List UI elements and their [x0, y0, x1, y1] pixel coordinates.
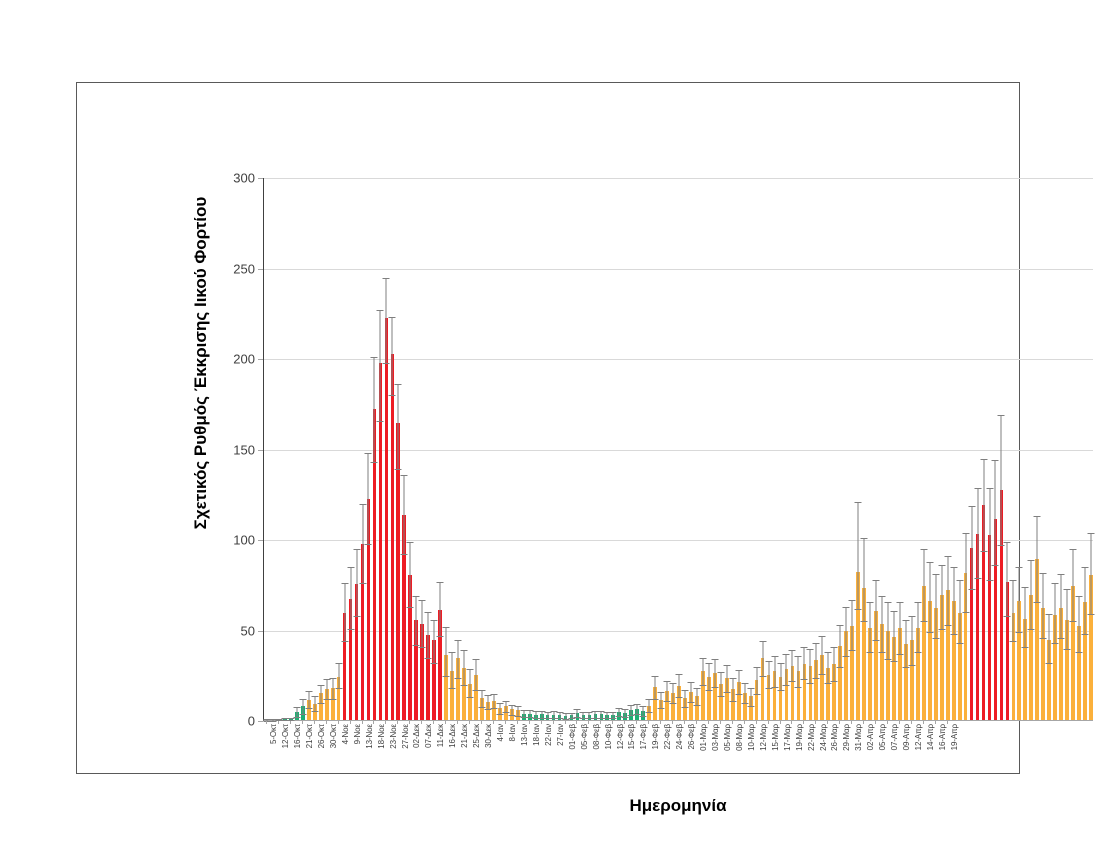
x-tick-label: 21-Δεκ — [460, 724, 469, 748]
x-tick-label: 02-Απρ — [866, 724, 875, 750]
x-tick-mark — [684, 721, 685, 724]
x-tick-label: 14-Απρ — [926, 724, 935, 750]
error-bar — [917, 602, 918, 653]
x-tick-label: 13-Ιαν — [520, 724, 529, 746]
error-bar — [702, 658, 703, 685]
x-tick-label: 07-Δεκ — [424, 724, 433, 748]
plot-area — [263, 178, 1093, 721]
error-bar — [302, 699, 303, 713]
error-bar — [458, 640, 459, 678]
error-bar — [523, 710, 524, 717]
error-bar — [332, 678, 333, 699]
x-tick-mark — [887, 721, 888, 724]
error-bar — [1007, 542, 1008, 616]
error-bar — [828, 652, 829, 683]
x-tick-label: 05-Μαρ — [723, 724, 732, 751]
x-tick-mark — [612, 721, 613, 724]
error-bar — [446, 627, 447, 676]
x-tick-label: 15-Φεβ — [627, 724, 636, 750]
x-tick-label: 23-Νοε — [389, 724, 398, 749]
x-tick-mark — [278, 721, 279, 724]
x-tick-mark — [469, 721, 470, 724]
x-tick-mark — [266, 721, 267, 724]
error-bar — [1091, 533, 1092, 614]
bar-series — [264, 178, 1093, 720]
error-bar — [338, 663, 339, 688]
error-bar — [870, 602, 871, 653]
x-tick-mark — [923, 721, 924, 724]
error-bar — [428, 612, 429, 657]
x-tick-mark — [768, 721, 769, 724]
error-bar — [344, 583, 345, 641]
y-axis: 050100150200250300 — [217, 178, 263, 721]
error-bar — [296, 707, 297, 718]
x-axis-title: Ημερομηνία — [263, 796, 1093, 816]
error-bar — [1013, 580, 1014, 642]
x-tick-mark — [648, 721, 649, 724]
x-tick-label: 22-Μαρ — [807, 724, 816, 751]
x-tick-mark — [373, 721, 374, 724]
error-bar — [1055, 583, 1056, 643]
x-tick-mark — [732, 721, 733, 724]
error-bar — [798, 656, 799, 687]
error-bar — [977, 488, 978, 579]
x-tick-mark — [541, 721, 542, 724]
error-bar — [1061, 574, 1062, 637]
x-tick-label: 12-Οκτ — [281, 724, 290, 748]
x-tick-mark — [935, 721, 936, 724]
x-tick-mark — [517, 721, 518, 724]
x-tick-mark — [445, 721, 446, 724]
x-tick-label: 5-Οκτ — [269, 724, 278, 744]
error-bar — [505, 701, 506, 712]
error-bar — [362, 504, 363, 584]
x-tick-label: 08-Μαρ — [735, 724, 744, 751]
error-bar — [649, 699, 650, 712]
error-bar — [720, 672, 721, 696]
error-bar — [804, 647, 805, 680]
chart-page: Σχετικός Ρυθμός Έκκρισης Ιικού Φορτίου 0… — [0, 0, 1100, 850]
error-bar — [947, 556, 948, 625]
x-tick-label: 10-Φεβ — [604, 724, 613, 750]
error-bar — [368, 453, 369, 544]
x-tick-mark — [803, 721, 804, 724]
x-tick-label: 17-Μαρ — [783, 724, 792, 751]
error-bar — [1031, 560, 1032, 629]
x-tick-label: 25-Δεκ — [472, 724, 481, 748]
x-tick-label: 22-Ιαν — [544, 724, 553, 746]
error-bar — [846, 607, 847, 656]
error-bar — [738, 670, 739, 694]
error-bar — [1025, 587, 1026, 647]
x-tick-mark — [457, 721, 458, 724]
x-tick-mark — [708, 721, 709, 724]
error-bar — [320, 685, 321, 703]
error-bar — [696, 688, 697, 704]
x-tick-mark — [588, 721, 589, 724]
error-bar — [1049, 614, 1050, 663]
error-bar — [356, 549, 357, 616]
bar[interactable] — [385, 318, 389, 720]
x-tick-label: 18-Ιαν — [532, 724, 541, 746]
error-bar — [631, 705, 632, 715]
y-tick-label: 100 — [233, 533, 255, 548]
error-bar — [434, 620, 435, 663]
x-tick-mark — [947, 721, 948, 724]
x-tick-label: 24-Μαρ — [819, 724, 828, 751]
error-bar — [935, 574, 936, 637]
x-tick-mark — [744, 721, 745, 724]
y-tick-label: 50 — [241, 623, 255, 638]
x-tick-label: 12-Απρ — [914, 724, 923, 750]
x-tick-label: 19-Απρ — [950, 724, 959, 750]
y-tick-label: 150 — [233, 442, 255, 457]
error-bar — [995, 460, 996, 565]
error-bar — [816, 643, 817, 677]
y-tick-label: 250 — [233, 261, 255, 276]
error-bar — [404, 475, 405, 555]
x-tick-mark — [302, 721, 303, 724]
x-tick-mark — [565, 721, 566, 724]
x-tick-mark — [481, 721, 482, 724]
error-bar — [714, 659, 715, 686]
error-bar — [834, 647, 835, 681]
error-bar — [810, 649, 811, 683]
error-bar — [553, 711, 554, 718]
error-bar — [601, 711, 602, 718]
x-tick-mark — [385, 721, 386, 724]
x-tick-label: 05-Απρ — [878, 724, 887, 750]
x-tick-mark — [493, 721, 494, 724]
error-bar — [840, 625, 841, 667]
error-bar — [822, 636, 823, 674]
error-bar — [929, 562, 930, 633]
x-tick-mark — [660, 721, 661, 724]
error-bar — [619, 708, 620, 717]
error-bar — [541, 711, 542, 718]
error-bar-cap — [287, 720, 294, 721]
x-tick-label: 9-Νοε — [353, 724, 362, 744]
error-bar — [464, 650, 465, 684]
x-tick-label: 16-Οκτ — [293, 724, 302, 748]
error-bar — [792, 650, 793, 681]
error-bar — [756, 667, 757, 694]
x-tick-label: 31-Μαρ — [854, 724, 863, 751]
x-tick-label: 27-Ιαν — [556, 724, 565, 746]
x-tick-label: 01-Μαρ — [699, 724, 708, 751]
error-bar — [971, 506, 972, 589]
error-bar — [386, 278, 387, 363]
x-tick-label: 18-Νοε — [377, 724, 386, 749]
error-bar — [678, 674, 679, 698]
bar-slot[interactable] — [1088, 178, 1094, 720]
error-bar — [1067, 589, 1068, 649]
y-tick-label: 0 — [248, 714, 255, 729]
x-tick-label: 26-Φεβ — [687, 724, 696, 750]
y-axis-title: Σχετικός Ρυθμός Έκκρισης Ιικού Φορτίου — [191, 153, 211, 573]
x-tick-label: 4-Νοε — [341, 724, 350, 744]
y-tick-mark — [258, 721, 263, 722]
error-bar-cap — [1088, 533, 1095, 534]
error-bar — [416, 596, 417, 645]
x-tick-mark — [815, 721, 816, 724]
error-bar — [1001, 415, 1002, 545]
error-bar — [661, 692, 662, 708]
error-bar — [893, 611, 894, 662]
x-tick-label: 12-Μαρ — [759, 724, 768, 751]
error-bar — [858, 502, 859, 609]
error-bar — [852, 600, 853, 651]
x-tick-mark — [326, 721, 327, 724]
x-tick-mark — [350, 721, 351, 724]
x-tick-label: 13-Νοε — [365, 724, 374, 749]
x-tick-label: 15-Μαρ — [771, 724, 780, 751]
error-bar — [732, 678, 733, 702]
x-tick-label: 17-Φεβ — [639, 724, 648, 750]
error-bar — [637, 704, 638, 715]
error-bar — [708, 663, 709, 690]
error-bar — [440, 582, 441, 636]
x-tick-mark — [397, 721, 398, 724]
x-tick-label: 05-Φεβ — [580, 724, 589, 750]
x-tick-mark — [911, 721, 912, 724]
error-bar — [923, 549, 924, 621]
error-bar — [673, 683, 674, 703]
error-bar — [684, 690, 685, 706]
x-tick-label: 07-Απρ — [890, 724, 899, 750]
x-tick-mark — [338, 721, 339, 724]
error-bar — [643, 706, 644, 716]
x-tick-label: 12-Φεβ — [616, 724, 625, 750]
error-bar — [475, 659, 476, 690]
error-bar — [959, 580, 960, 643]
error-bar — [1019, 567, 1020, 632]
x-tick-label: 16-Δεκ — [448, 724, 457, 748]
x-tick-label: 09-Απρ — [902, 724, 911, 750]
error-bar — [470, 669, 471, 698]
error-bar — [1043, 573, 1044, 638]
x-tick-mark — [672, 721, 673, 724]
error-bar — [864, 538, 865, 621]
error-bar — [625, 709, 626, 717]
x-tick-mark — [827, 721, 828, 724]
error-bar — [876, 580, 877, 640]
error-bar — [452, 652, 453, 688]
error-bar — [595, 711, 596, 718]
x-tick-mark — [505, 721, 506, 724]
error-bar — [392, 317, 393, 395]
error-bar — [326, 679, 327, 699]
error-bar — [1037, 516, 1038, 601]
error-bar — [308, 691, 309, 708]
error-bar — [953, 567, 954, 634]
x-tick-label: 16-Απρ — [938, 724, 947, 750]
x-tick-label: 26-Μαρ — [830, 724, 839, 751]
bar[interactable] — [391, 354, 395, 720]
x-tick-mark — [720, 721, 721, 724]
error-bar — [667, 681, 668, 701]
error-bar — [487, 695, 488, 709]
x-tick-mark — [433, 721, 434, 724]
x-tick-mark — [899, 721, 900, 724]
error-bar — [750, 688, 751, 706]
error-bar-cap — [1088, 614, 1095, 615]
error-bar — [1085, 567, 1086, 634]
error-bar — [422, 600, 423, 647]
error-bar — [768, 661, 769, 688]
error-bar — [905, 620, 906, 667]
error-bar — [786, 654, 787, 685]
x-tick-mark — [362, 721, 363, 724]
x-tick-mark — [314, 721, 315, 724]
error-bar — [517, 706, 518, 716]
x-tick-label: 27-Νοε — [401, 724, 410, 749]
x-tick-label: 24-Φεβ — [675, 724, 684, 750]
x-tick-label: 26-Οκτ — [317, 724, 326, 748]
error-bar — [1073, 549, 1074, 621]
error-bar — [1079, 596, 1080, 652]
error-bar — [398, 384, 399, 469]
error-bar — [911, 616, 912, 665]
x-tick-label: 19-Φεβ — [651, 724, 660, 750]
error-bar — [774, 656, 775, 687]
error-bar — [762, 641, 763, 675]
error-bar — [493, 694, 494, 708]
error-bar — [535, 711, 536, 718]
x-tick-mark — [529, 721, 530, 724]
x-tick-label: 02-Δεκ — [412, 724, 421, 748]
x-tick-mark — [636, 721, 637, 724]
x-tick-mark — [409, 721, 410, 724]
x-tick-label: 4-Ιαν — [496, 724, 505, 741]
x-tick-label: 10-Μαρ — [747, 724, 756, 751]
error-bar — [726, 665, 727, 692]
x-tick-mark — [600, 721, 601, 724]
error-bar — [499, 703, 500, 714]
x-tick-label: 21-Οκτ — [305, 724, 314, 748]
error-bar — [350, 567, 351, 629]
error-bar — [410, 542, 411, 607]
x-tick-mark — [875, 721, 876, 724]
x-tick-mark — [791, 721, 792, 724]
error-bar — [744, 683, 745, 703]
error-bar — [314, 696, 315, 711]
x-tick-mark — [624, 721, 625, 724]
x-tick-label: 8-Ιαν — [508, 724, 517, 741]
x-tick-label: 08-Φεβ — [592, 724, 601, 750]
x-tick-label: 30-Οκτ — [329, 724, 338, 748]
error-bar — [941, 565, 942, 628]
x-axis-tick-labels: 5-Οκτ12-Οκτ16-Οκτ21-Οκτ26-Οκτ30-Οκτ4-Νοε… — [263, 724, 1093, 790]
y-tick-label: 200 — [233, 352, 255, 367]
error-bar — [965, 533, 966, 613]
x-tick-label: 22-Φεβ — [663, 724, 672, 750]
x-tick-mark — [863, 721, 864, 724]
error-bar — [690, 682, 691, 702]
error-bar — [989, 488, 990, 580]
x-tick-mark — [421, 721, 422, 724]
error-bar — [511, 705, 512, 715]
x-tick-mark — [576, 721, 577, 724]
x-tick-label: 01-Φεβ — [568, 724, 577, 750]
error-bar — [983, 459, 984, 551]
x-tick-mark — [839, 721, 840, 724]
chart-frame: Σχετικός Ρυθμός Έκκρισης Ιικού Φορτίου 0… — [76, 82, 1020, 774]
x-tick-mark — [756, 721, 757, 724]
error-bar — [481, 690, 482, 706]
x-tick-mark — [290, 721, 291, 724]
x-tick-mark — [851, 721, 852, 724]
x-tick-label: 03-Μαρ — [711, 724, 720, 751]
error-bar — [882, 596, 883, 652]
error-bar — [780, 663, 781, 690]
x-tick-mark — [696, 721, 697, 724]
x-tick-label: 11-Δεκ — [436, 724, 445, 747]
error-bar — [374, 357, 375, 462]
error-bar — [577, 709, 578, 717]
x-tick-mark — [780, 721, 781, 724]
x-tick-mark — [553, 721, 554, 724]
error-bar — [655, 676, 656, 700]
y-tick-label: 300 — [233, 171, 255, 186]
error-bar — [529, 710, 530, 717]
x-tick-label: 19-Μαρ — [795, 724, 804, 751]
error-bar — [887, 602, 888, 660]
error-bar — [380, 310, 381, 420]
x-tick-label: 29-Μαρ — [842, 724, 851, 751]
x-tick-label: 30-Δεκ — [484, 724, 493, 748]
error-bar — [899, 602, 900, 654]
